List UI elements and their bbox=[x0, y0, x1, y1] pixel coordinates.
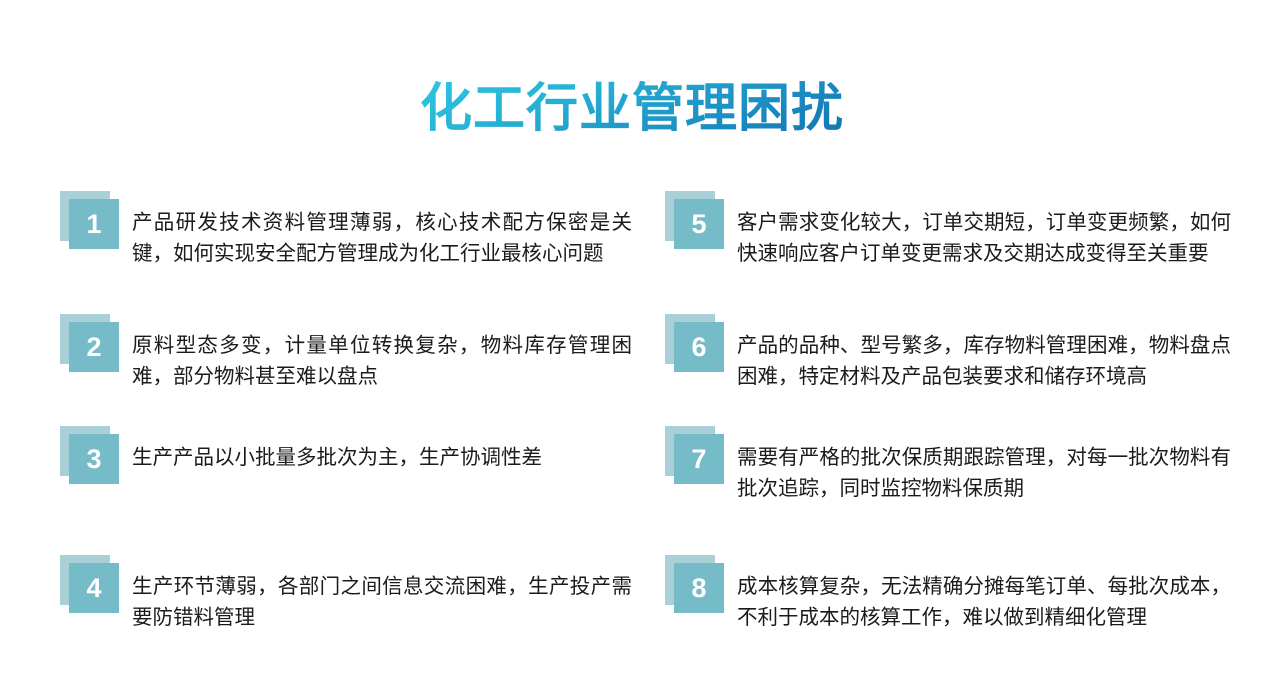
pain-point-text: 客户需求变化较大，订单交期短，订单变更频繁，如何快速响应客户订单变更需求及交期达… bbox=[737, 207, 1231, 269]
pain-point-number-badge: 4 bbox=[60, 555, 124, 617]
badge-number: 5 bbox=[674, 199, 724, 249]
pain-point-text: 成本核算复杂，无法精确分摊每笔订单、每批次成本，不利于成本的核算工作，难以做到精… bbox=[737, 571, 1231, 633]
pain-point-text: 产品的品种、型号繁多，库存物料管理困难，物料盘点困难，特定材料及产品包装要求和储… bbox=[737, 330, 1231, 392]
pain-point-text: 产品研发技术资料管理薄弱，核心技术配方保密是关键，如何实现安全配方管理成为化工行… bbox=[132, 207, 632, 269]
badge-number: 2 bbox=[69, 322, 119, 372]
pain-point-number-badge: 6 bbox=[665, 314, 729, 376]
pain-point-number-badge: 2 bbox=[60, 314, 124, 376]
pain-point-text: 生产产品以小批量多批次为主，生产协调性差 bbox=[132, 442, 632, 473]
badge-number: 1 bbox=[69, 199, 119, 249]
pain-point-number-badge: 7 bbox=[665, 426, 729, 488]
pain-point-text: 生产环节薄弱，各部门之间信息交流困难，生产投产需要防错料管理 bbox=[132, 571, 632, 633]
pain-point-text: 原料型态多变，计量单位转换复杂，物料库存管理困难，部分物料甚至难以盘点 bbox=[132, 330, 632, 392]
badge-number: 8 bbox=[674, 563, 724, 613]
badge-number: 4 bbox=[69, 563, 119, 613]
pain-point-text: 需要有严格的批次保质期跟踪管理，对每一批次物料有批次追踪，同时监控物料保质期 bbox=[737, 442, 1231, 504]
badge-number: 7 bbox=[674, 434, 724, 484]
page-title: 化工行业管理困扰 bbox=[420, 81, 844, 138]
pain-point-number-badge: 5 bbox=[665, 191, 729, 253]
page-title-container: 化工行业管理困扰 bbox=[0, 46, 1264, 173]
pain-points-grid: 1 产品研发技术资料管理薄弱，核心技术配方保密是关键，如何实现安全配方管理成为化… bbox=[0, 186, 1264, 686]
pain-point-number-badge: 3 bbox=[60, 426, 124, 488]
badge-number: 3 bbox=[69, 434, 119, 484]
pain-point-number-badge: 8 bbox=[665, 555, 729, 617]
badge-number: 6 bbox=[674, 322, 724, 372]
pain-point-number-badge: 1 bbox=[60, 191, 124, 253]
